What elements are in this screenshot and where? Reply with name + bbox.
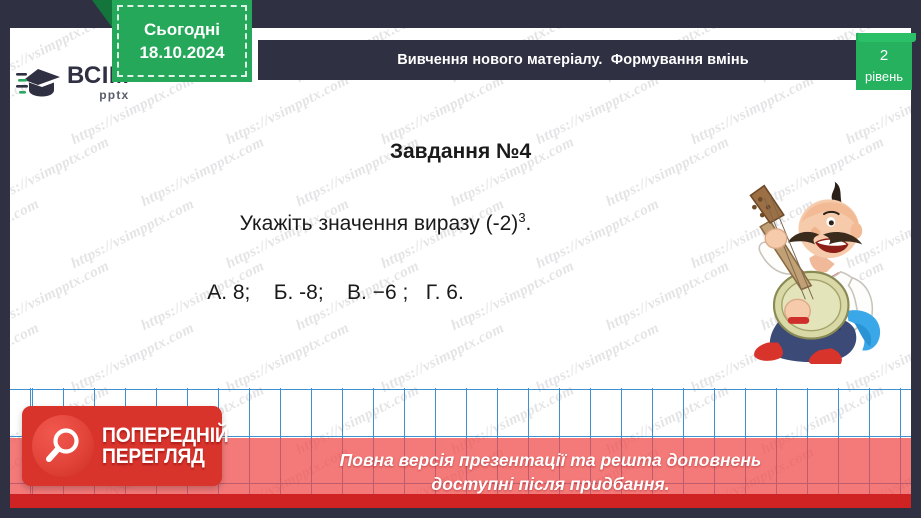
band-bottom-stripe: [10, 494, 911, 508]
date-tag-value: 18.10.2024: [139, 42, 224, 63]
watermark-text: https://vsimpptx.com: [379, 72, 508, 149]
level-label: рівень: [865, 70, 903, 83]
task-question-text: Укажіть значення виразу (-2): [240, 212, 519, 235]
preview-badge-line-2: ПЕРЕГЛЯД: [102, 446, 229, 467]
purchase-notice-line-1: Повна версія презентації та решта доповн…: [340, 449, 762, 473]
watermark-text: https://vsimpptx.com: [224, 72, 353, 149]
level-number: 2: [880, 48, 888, 63]
magnifier-icon: [42, 425, 84, 467]
watermark-text: https://vsimpptx.com: [10, 320, 42, 397]
date-tag-fold: [92, 0, 114, 30]
slide-content-card: Завдання №4 Укажіть значення виразу (-2)…: [10, 28, 911, 508]
graduation-cap-icon: [16, 63, 62, 101]
date-tag: Сьогодні 18.10.2024: [112, 0, 252, 82]
task-question-suffix: .: [526, 212, 532, 235]
preview-badge-line-1: ПОПЕРЕДНІЙ: [102, 425, 229, 446]
page-title: Завдання №4: [10, 140, 911, 164]
date-tag-label: Сьогодні: [144, 19, 220, 40]
cossack-playing-bandura-illustration: [725, 166, 911, 366]
header-title: Вивчення нового матеріалу. Формування вм…: [397, 52, 749, 68]
watermark-text: https://vsimpptx.com: [379, 320, 508, 397]
watermark-text: https://vsimpptx.com: [689, 72, 818, 149]
header-bar: Вивчення нового матеріалу. Формування вм…: [258, 40, 888, 80]
status-badge: 2 рівень: [856, 33, 912, 90]
preview-badge[interactable]: ПОПЕРЕДНІЙ ПЕРЕГЛЯД: [22, 406, 222, 486]
watermark-text: https://vsimpptx.com: [224, 320, 353, 397]
answer-options: А. 8; Б. -8; В. −6 ; Г. 6.: [10, 281, 661, 305]
logo-subtitle: pptx: [67, 89, 129, 101]
purchase-notice-text: Повна версія презентації та решта доповн…: [160, 449, 762, 496]
task-question: Укажіть значення виразу (-2)3.: [10, 210, 761, 236]
slide-root: Завдання №4 Укажіть значення виразу (-2)…: [0, 0, 921, 518]
preview-badge-text: ПОПЕРЕДНІЙ ПЕРЕГЛЯД: [102, 425, 229, 468]
watermark-text: https://vsimpptx.com: [534, 72, 663, 149]
watermark-text: https://vsimpptx.com: [69, 320, 198, 397]
magnifier-icon-circle: [32, 415, 94, 477]
task-question-exponent: 3: [518, 210, 525, 225]
watermark-text: https://vsimpptx.com: [534, 320, 663, 397]
